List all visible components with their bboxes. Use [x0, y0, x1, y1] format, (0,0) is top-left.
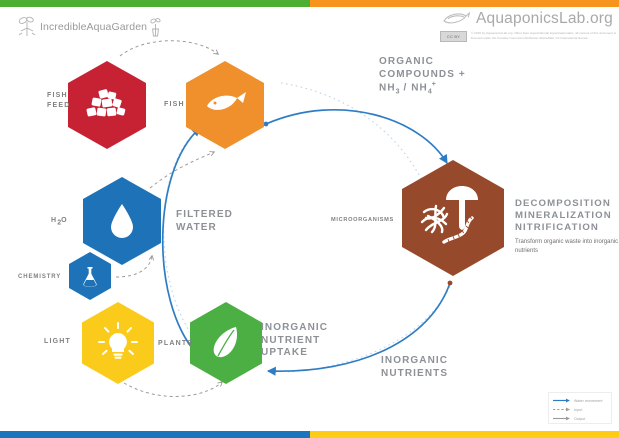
- fish-icon: [202, 90, 248, 120]
- light-hexagon: [82, 302, 154, 384]
- arrow-light-to-plants: [124, 382, 222, 396]
- node-label-water: H2O: [51, 216, 68, 229]
- node-label-light: LIGHT: [44, 337, 71, 347]
- node-label-plants: PLANTS: [158, 339, 193, 349]
- legend-item-water-movement: Water movement: [553, 396, 607, 405]
- node-label-chemistry: CHEMISTRY: [18, 273, 61, 282]
- flow-label-filtered-water: FILTERED WATER: [176, 209, 233, 234]
- chemistry-hexagon: [69, 252, 111, 300]
- lightbulb-icon: [97, 321, 139, 365]
- legend-label-water-movement: Water movement: [574, 399, 603, 403]
- infographic-canvas: IncredibleAquaGarden AquaponicsLab.org: [0, 0, 619, 438]
- legend-item-output: Output: [553, 414, 607, 423]
- node-plants[interactable]: [190, 302, 262, 384]
- fish-feed-hexagon: [68, 61, 146, 149]
- legend-label-input: Input: [574, 408, 583, 412]
- flow-label-organic-compounds: ORGANIC COMPOUNDS + NH3 / NH4+: [379, 56, 466, 97]
- node-chemistry[interactable]: [69, 252, 111, 300]
- flow-fish-to-decomposition: [266, 110, 447, 163]
- flask-icon: [80, 264, 100, 288]
- node-label-fish-feed: FISHFEED: [47, 91, 75, 111]
- legend-item-input: Input: [553, 405, 607, 414]
- flow-label-inorganic-nutrients: INORGANIC NUTRIENTS: [381, 355, 448, 380]
- legend-dashed-arrow-icon: [553, 407, 571, 412]
- decomposition-subtitle: Transform organic waste into inorganic n…: [515, 238, 619, 255]
- plants-hexagon: [190, 302, 262, 384]
- pellets-icon: [85, 88, 129, 122]
- legend-solid-gray-arrow-icon: [553, 416, 571, 421]
- decomposition-hexagon: [402, 160, 504, 276]
- node-fish-feed[interactable]: [68, 61, 146, 149]
- legend-label-output: Output: [574, 417, 585, 421]
- leaf-icon: [210, 323, 242, 363]
- node-decomposition[interactable]: [402, 160, 504, 276]
- legend: Water movement Input Output: [548, 392, 612, 424]
- decomposition-text-block: DECOMPOSITION MINERALIZATION NITRIFICATI…: [515, 198, 619, 255]
- decomposition-title: DECOMPOSITION MINERALIZATION NITRIFICATI…: [515, 198, 619, 234]
- node-light[interactable]: [82, 302, 154, 384]
- worm-mushroom-icon: [416, 180, 490, 256]
- water-drop-icon: [107, 201, 137, 241]
- legend-solid-blue-arrow-icon: [553, 398, 571, 403]
- ammonia-formula: NH3 / NH4+: [379, 81, 466, 97]
- fish-hexagon: [186, 61, 264, 149]
- node-label-microorganisms: MICROORGANISMS: [331, 216, 394, 224]
- flow-origin-dot-fish: [264, 122, 269, 127]
- node-fish[interactable]: [186, 61, 264, 149]
- flow-label-inorganic-nutrient-uptake: INORGANIC NUTRIENT UPTAKE: [261, 322, 328, 360]
- arrow-fishfeed-to-fish: [120, 41, 218, 56]
- flow-origin-dot-decomposition: [448, 281, 453, 286]
- node-label-fish: FISH: [164, 100, 185, 110]
